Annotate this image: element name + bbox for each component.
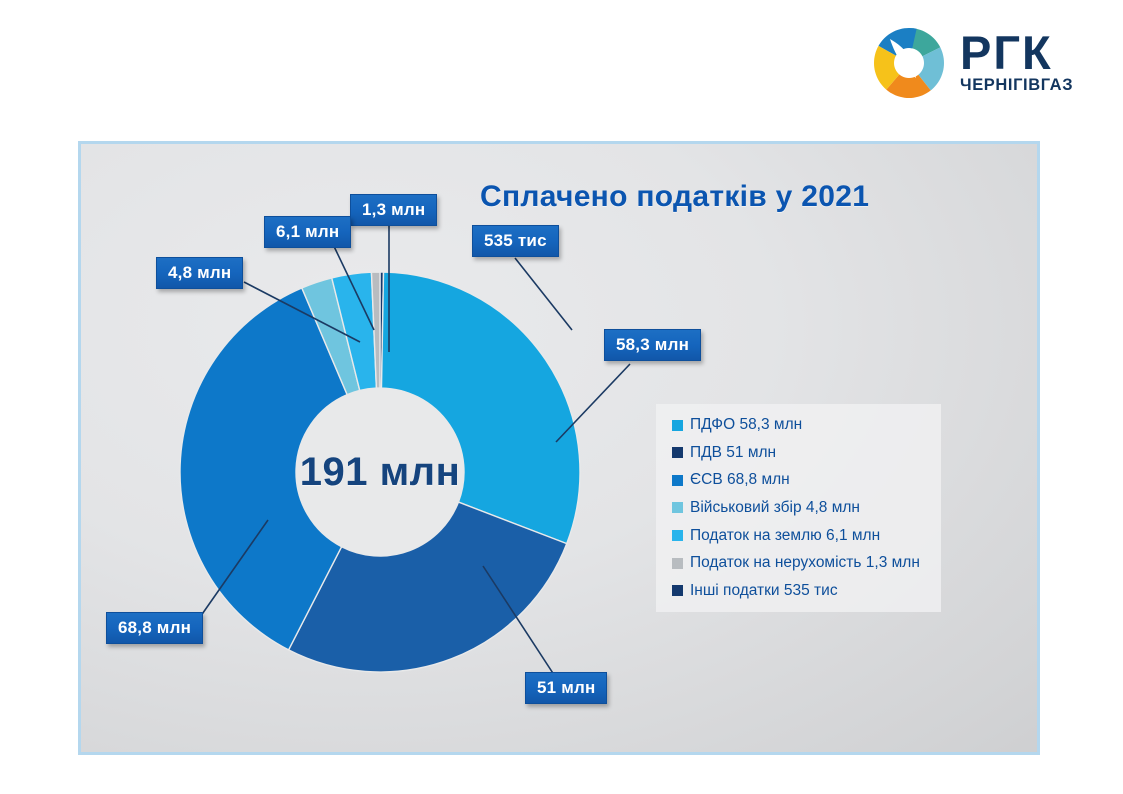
legend-item: Інші податки 535 тис <box>672 582 927 600</box>
legend-item: ПДВ 51 млн <box>672 444 927 462</box>
rgk-swirl-icon <box>872 26 946 100</box>
legend-swatch-icon <box>672 447 683 458</box>
donut-chart-svg <box>170 262 590 682</box>
legend-item: Податок на землю 6,1 млн <box>672 527 927 545</box>
callout-535-tys: 535 тис <box>472 225 559 257</box>
legend-swatch-icon <box>672 585 683 596</box>
donut-chart: 191 млн <box>170 262 590 682</box>
legend-swatch-icon <box>672 475 683 486</box>
legend-item: ЄСВ 68,8 млн <box>672 471 927 489</box>
callout-1-3-mln: 1,3 млн <box>350 194 437 226</box>
legend-item-label: Інші податки 535 тис <box>690 582 838 600</box>
callout-58-3-mln: 58,3 млн <box>604 329 701 361</box>
callout-6-1-mln: 6,1 млн <box>264 216 351 248</box>
callout-4-8-mln: 4,8 млн <box>156 257 243 289</box>
chart-title: Сплачено податків у 2021 <box>480 180 869 214</box>
donut-hole <box>296 388 464 556</box>
brand-wordmark: РГК ЧЕРНІГІВГАЗ <box>960 30 1073 96</box>
legend-item-label: Військовий збір 4,8 млн <box>690 499 860 517</box>
legend-swatch-icon <box>672 530 683 541</box>
legend-item-label: Податок на землю 6,1 млн <box>690 527 880 545</box>
legend-item-label: ЄСВ 68,8 млн <box>690 471 790 489</box>
brand-subname: ЧЕРНІГІВГАЗ <box>960 75 1073 96</box>
chart-legend: ПДФО 58,3 млнПДВ 51 млнЄСВ 68,8 млнВійсь… <box>656 404 941 612</box>
brand-name: РГК <box>960 30 1073 75</box>
legend-swatch-icon <box>672 502 683 513</box>
legend-item: Військовий збір 4,8 млн <box>672 499 927 517</box>
legend-item: Податок на нерухомість 1,3 млн <box>672 554 927 572</box>
legend-item-label: ПДВ 51 млн <box>690 444 776 462</box>
legend-item-label: ПДФО 58,3 млн <box>690 416 802 434</box>
legend-swatch-icon <box>672 558 683 569</box>
callout-68-8-mln: 68,8 млн <box>106 612 203 644</box>
callout-51-mln: 51 млн <box>525 672 607 704</box>
legend-swatch-icon <box>672 420 683 431</box>
brand-logo: РГК ЧЕРНІГІВГАЗ <box>872 22 1082 104</box>
legend-item-label: Податок на нерухомість 1,3 млн <box>690 554 920 572</box>
legend-item: ПДФО 58,3 млн <box>672 416 927 434</box>
